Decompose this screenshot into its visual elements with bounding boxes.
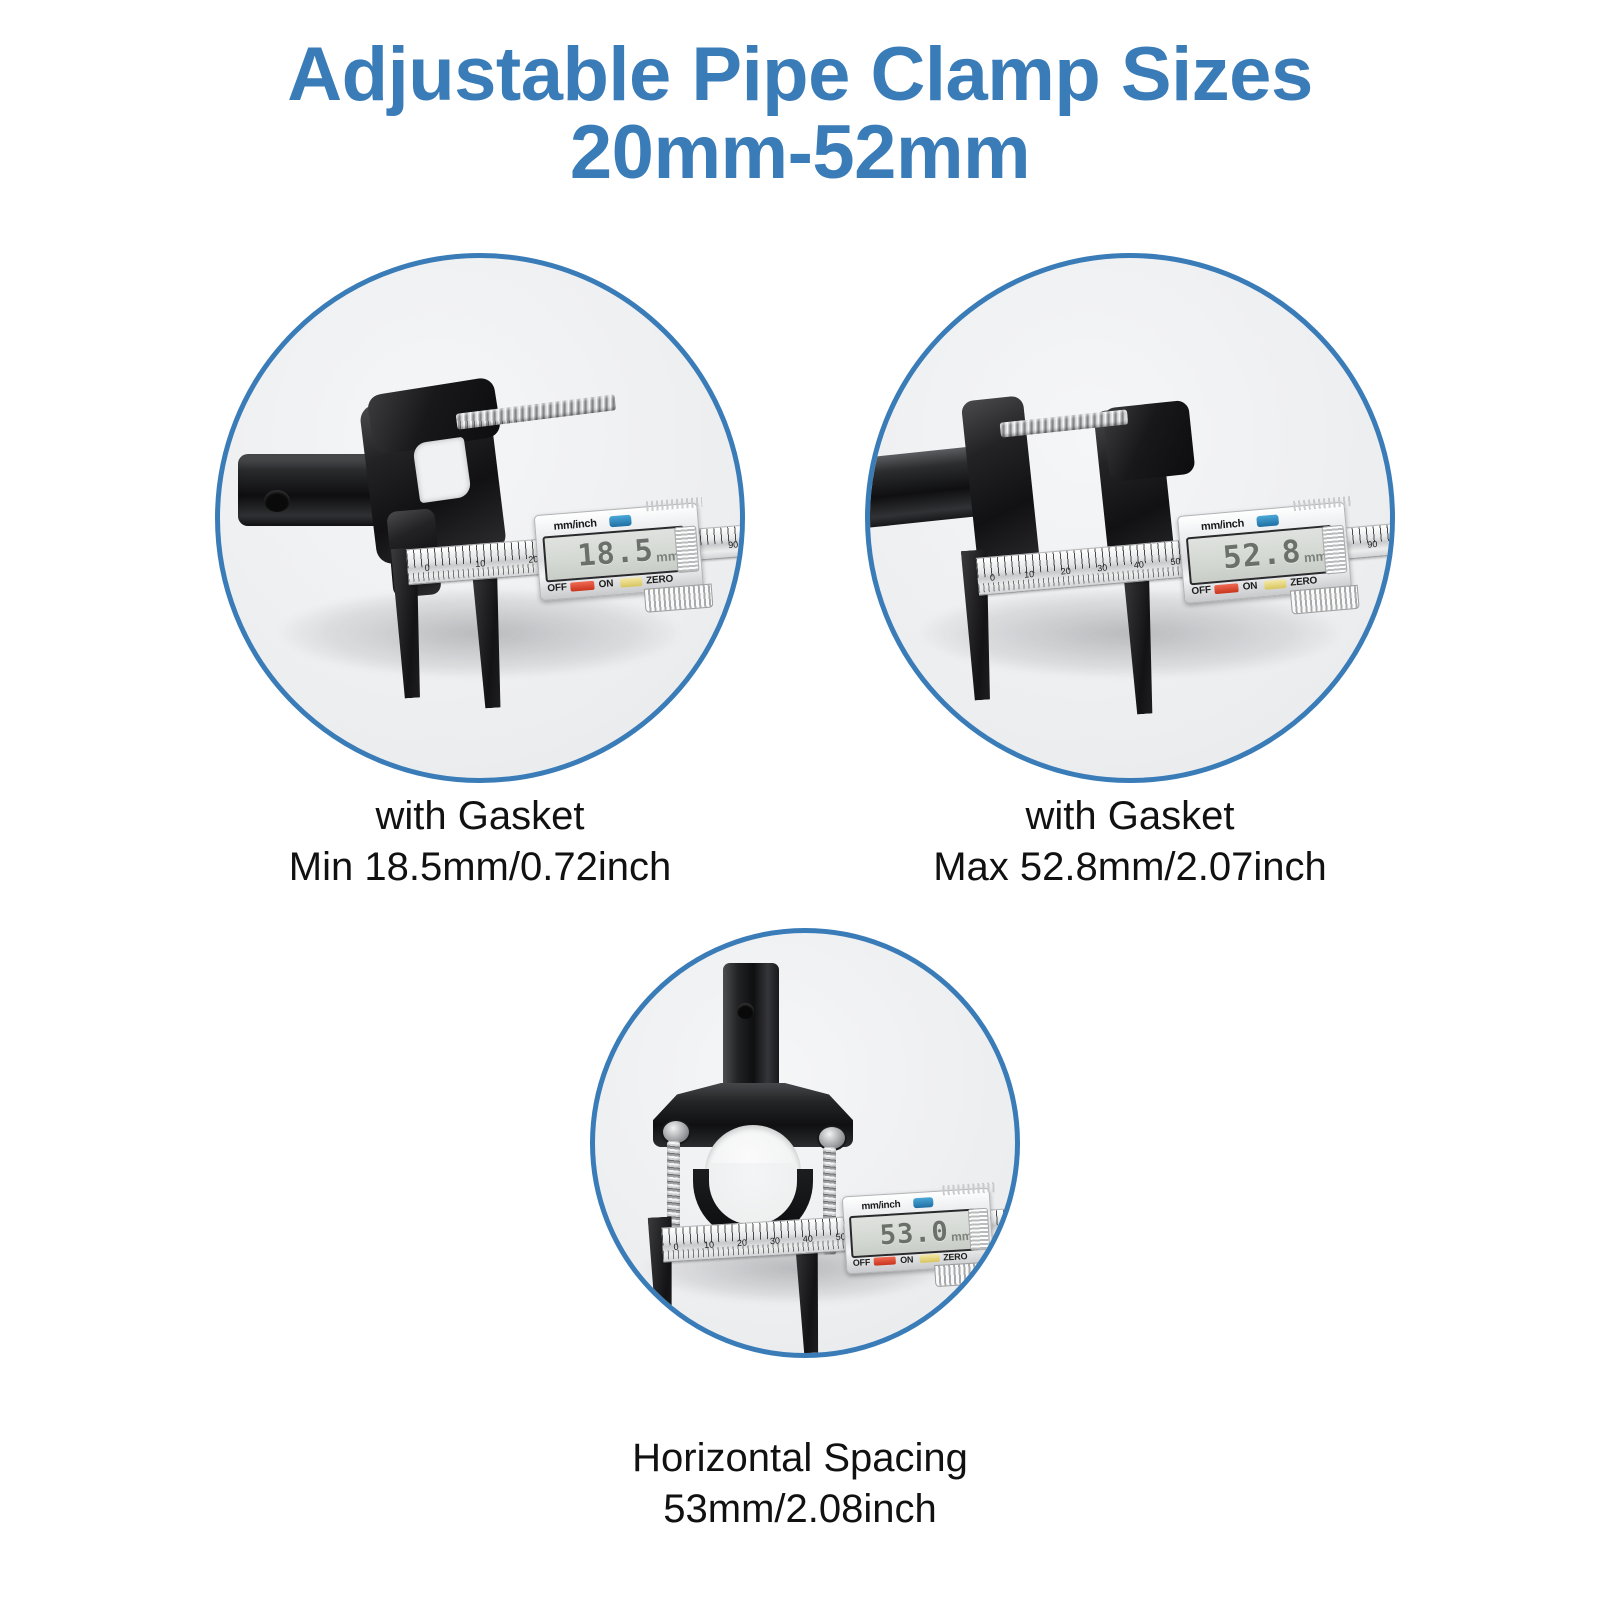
caliper-scale-label-0: 0 bbox=[424, 563, 430, 573]
caption-line-2: Min 18.5mm/0.72inch bbox=[195, 842, 765, 893]
caliper-scale-label-20: 20 bbox=[1060, 566, 1071, 577]
caliper-scale-label-50: 50 bbox=[1170, 556, 1181, 567]
mm-inch-button[interactable] bbox=[913, 1197, 934, 1208]
off-label: OFF bbox=[853, 1257, 871, 1268]
product-photo-circle-max: 0 10 20 30 40 50 90 mm/inc bbox=[865, 253, 1395, 783]
caliper-scale-label-20: 20 bbox=[737, 1237, 748, 1248]
post-hole bbox=[737, 1003, 754, 1019]
caliper-head-comb bbox=[646, 497, 703, 511]
panel-min-with-gasket: 0 10 20 90 mm/inch bbox=[215, 253, 745, 783]
caliper-thumb-wheel[interactable] bbox=[934, 1261, 995, 1287]
on-label: ON bbox=[900, 1254, 914, 1265]
power-switch[interactable] bbox=[570, 581, 595, 592]
product-photo-min: 0 10 20 90 mm/inch bbox=[220, 258, 740, 778]
panel-caption-min: with Gasket Min 18.5mm/0.72inch bbox=[195, 791, 765, 893]
caption-line-2: 53mm/2.08inch bbox=[495, 1484, 1105, 1535]
panel-caption-spacing: Horizontal Spacing 53mm/2.08inch bbox=[495, 1433, 1105, 1535]
zero-label: ZERO bbox=[646, 574, 674, 587]
caliper-scale-label-30: 30 bbox=[1097, 563, 1108, 574]
caliper-grip-panel bbox=[674, 526, 700, 574]
caption-line-1: with Gasket bbox=[845, 791, 1415, 842]
caliper-scale-label-tail: 90 bbox=[728, 539, 739, 550]
caliper-mode-label: mm/inch bbox=[553, 517, 597, 532]
caption-line-1: with Gasket bbox=[195, 791, 765, 842]
caliper-grip-panel bbox=[1321, 525, 1347, 575]
caliper-scale-label-10: 10 bbox=[1024, 569, 1035, 580]
page-title-line-1: Adjustable Pipe Clamp Sizes bbox=[0, 36, 1600, 114]
caliper-beam: 0 10 20 30 40 50 bbox=[661, 1216, 859, 1263]
off-label: OFF bbox=[547, 582, 567, 594]
zero-button[interactable] bbox=[919, 1254, 939, 1263]
off-label: OFF bbox=[1191, 585, 1211, 598]
panel-horizontal-spacing: 0 10 20 30 40 50 mm/inch 5 bbox=[590, 928, 1020, 1358]
caliper-reading: 52.8 bbox=[1222, 536, 1303, 574]
caliper-scale-label-tail: 90 bbox=[1367, 538, 1378, 549]
caliper-reading: 53.0 bbox=[879, 1218, 950, 1249]
product-photo-circle-spacing: 0 10 20 30 40 50 mm/inch 5 bbox=[590, 928, 1020, 1358]
product-photo-max: 0 10 20 30 40 50 90 mm/inc bbox=[870, 258, 1390, 778]
clamp-opening bbox=[412, 437, 472, 504]
mm-inch-button[interactable] bbox=[1256, 514, 1279, 527]
pipe-stub-hole bbox=[264, 490, 290, 512]
caliper-mode-label: mm/inch bbox=[1200, 517, 1244, 533]
caliper-scale-label-0: 0 bbox=[673, 1242, 679, 1252]
power-switch[interactable] bbox=[1215, 583, 1240, 594]
power-switch[interactable] bbox=[874, 1256, 896, 1265]
mm-inch-button[interactable] bbox=[609, 515, 632, 528]
caliper-scale-label-40: 40 bbox=[802, 1233, 813, 1244]
on-label: ON bbox=[1242, 580, 1258, 592]
caliper-scale-label-10: 10 bbox=[704, 1239, 715, 1250]
caliper-scale-label-40: 40 bbox=[1133, 559, 1144, 570]
page-title-line-2: 20mm-52mm bbox=[0, 114, 1600, 192]
caliper-reading: 18.5 bbox=[577, 536, 655, 572]
caption-line-1: Horizontal Spacing bbox=[495, 1433, 1105, 1484]
product-photo-circle-min: 0 10 20 90 mm/inch bbox=[215, 253, 745, 783]
caliper-head: mm/inch 53.0 mm OFF ON ZERO bbox=[842, 1188, 994, 1275]
caliper-scale-label-30: 30 bbox=[770, 1235, 781, 1246]
digital-caliper: 0 10 20 30 40 50 mm/inch 5 bbox=[644, 1184, 1020, 1317]
product-photo-spacing: 0 10 20 30 40 50 mm/inch 5 bbox=[595, 933, 1015, 1353]
zero-label: ZERO bbox=[943, 1251, 968, 1262]
caliper-beam: 0 10 20 30 40 50 bbox=[976, 539, 1196, 596]
caliper-grip-panel bbox=[968, 1208, 991, 1251]
caption-line-2: Max 52.8mm/2.07inch bbox=[845, 842, 1415, 893]
mount-post bbox=[723, 963, 779, 1103]
caliper-head-comb bbox=[1293, 496, 1352, 511]
zero-button[interactable] bbox=[1264, 579, 1287, 590]
caliper-head-comb bbox=[942, 1182, 995, 1195]
caliper-thumb-wheel[interactable] bbox=[644, 584, 714, 613]
caliper-mode-label: mm/inch bbox=[861, 1199, 901, 1212]
zero-label: ZERO bbox=[1290, 575, 1318, 588]
caliper-scale-label-10: 10 bbox=[475, 558, 486, 569]
zero-button[interactable] bbox=[620, 577, 643, 588]
on-label: ON bbox=[598, 578, 613, 590]
panel-max-with-gasket: 0 10 20 30 40 50 90 mm/inc bbox=[865, 253, 1395, 783]
caliper-thumb-wheel[interactable] bbox=[1290, 585, 1360, 615]
page-title: Adjustable Pipe Clamp Sizes 20mm-52mm bbox=[0, 36, 1600, 191]
panel-caption-max: with Gasket Max 52.8mm/2.07inch bbox=[845, 791, 1415, 893]
caliper-scale-label-0: 0 bbox=[990, 572, 996, 582]
